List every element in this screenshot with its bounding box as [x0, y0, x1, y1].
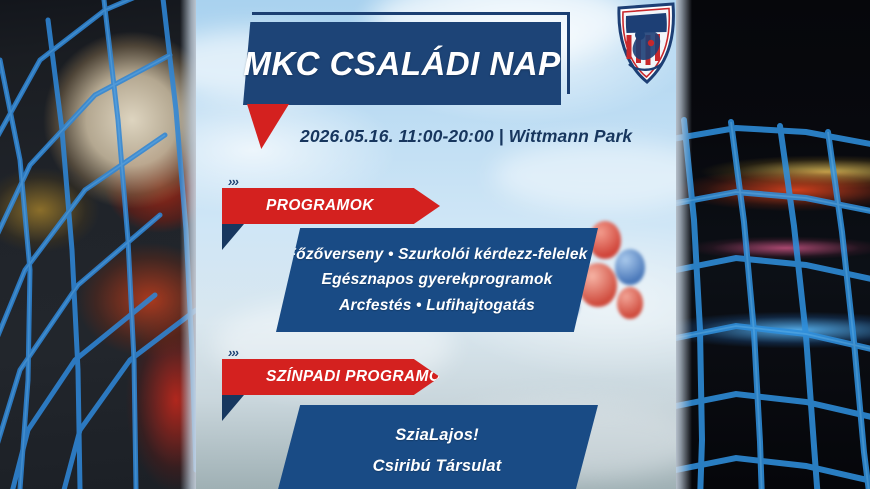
banner-programs: PROGRAMOK — [222, 188, 440, 224]
stage-program-item: SziaLajos! — [395, 420, 479, 451]
chevron-marks-stage-programs: ››› — [228, 345, 238, 360]
panel-programs: Főzőverseny • Szurkolói kérdezz-felelek … — [276, 228, 598, 332]
balloon-blue — [615, 249, 645, 285]
program-item: Főzőverseny • Szurkolói kérdezz-felelek — [287, 242, 588, 267]
chevron-marks-programs: ››› — [228, 174, 238, 189]
event-poster: MKC CSALÁDI NAP 2026.05.16. 11:00-20:00 … — [0, 0, 870, 489]
net-overlay — [676, 0, 870, 489]
left-photo-handball-net — [0, 0, 196, 489]
club-crest-icon — [613, 2, 679, 86]
photo-edge-fade — [180, 0, 196, 489]
right-photo-goal-net — [676, 0, 870, 489]
panel-stage-programs: SziaLajos! Csiribú Társulat — [276, 405, 598, 489]
balloon-red — [617, 287, 643, 319]
banner-stage-programs: SZÍNPADI PROGRAMOK — [222, 359, 440, 395]
event-date-location: 2026.05.16. 11:00-20:00 | Wittmann Park — [243, 121, 623, 151]
net-overlay — [0, 0, 196, 489]
stage-program-item: Csiribú Társulat — [373, 451, 502, 482]
page-title: MKC CSALÁDI NAP — [243, 22, 561, 105]
banner-stage-programs-label: SZÍNPADI PROGRAMOK — [222, 368, 453, 386]
program-item: Arcfestés • Lufihajtogatás — [339, 293, 535, 318]
program-item: Egésznapos gyerekprogramok — [322, 267, 553, 292]
banner-programs-label: PROGRAMOK — [222, 197, 374, 215]
